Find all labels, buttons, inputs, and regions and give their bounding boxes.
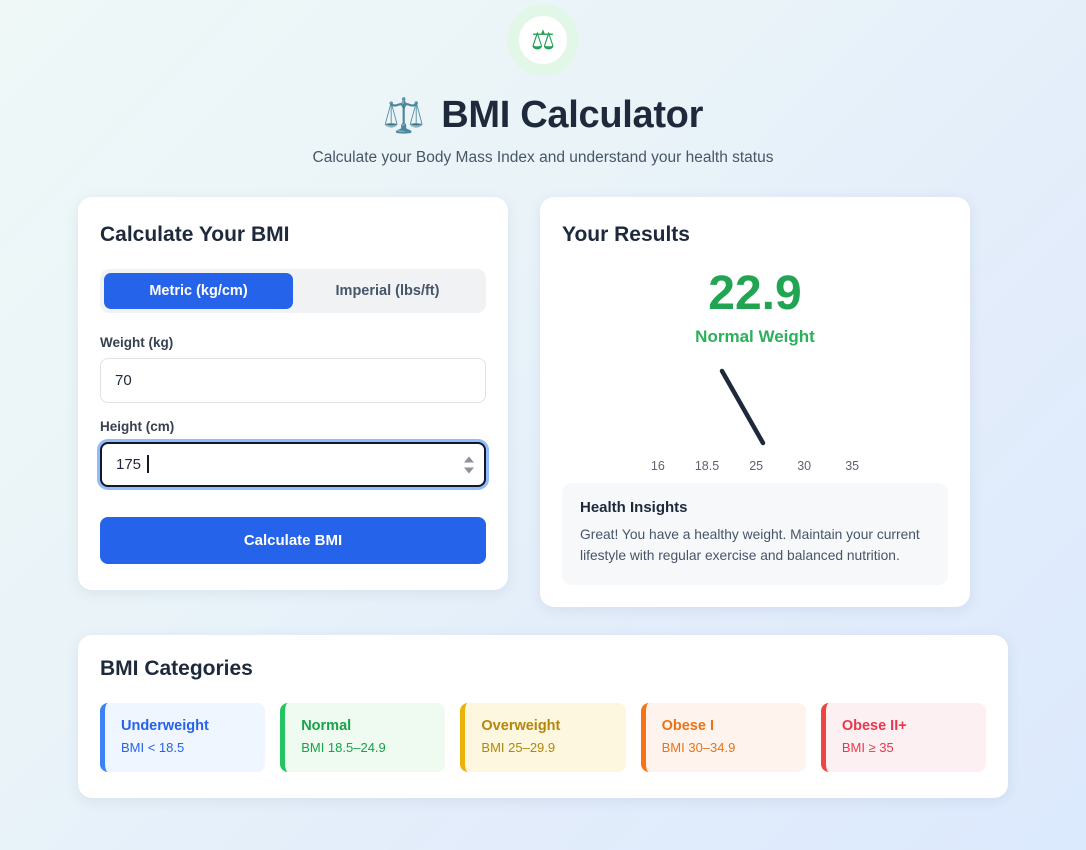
logo-circle: ⚖ — [519, 16, 567, 64]
unit-toggle-metric[interactable]: Metric (kg/cm) — [104, 273, 293, 309]
gauge-tick-labels: 16 18.5 25 30 35 — [562, 459, 948, 473]
height-input-wrap — [100, 442, 486, 487]
results-card: Your Results 22.9 Normal Weight 16 18.5 … — [540, 197, 970, 607]
bmi-gauge: 16 18.5 25 30 35 — [562, 359, 948, 477]
height-input[interactable] — [100, 442, 486, 487]
gauge-tick: 25 — [745, 459, 767, 473]
weight-input-wrap — [100, 358, 486, 403]
calculator-card: Calculate Your BMI Metric (kg/cm) Imperi… — [78, 197, 508, 590]
height-field-block: Height (cm) — [100, 419, 486, 487]
category-item-obese-2: Obese II+ BMI ≥ 35 — [821, 703, 986, 772]
stepper-down-icon[interactable] — [464, 467, 474, 473]
title-row: ⚖️ BMI Calculator — [0, 94, 1086, 137]
calculate-bmi-button[interactable]: Calculate BMI — [100, 517, 486, 564]
bmi-categories-card: BMI Categories Underweight BMI < 18.5 No… — [78, 635, 1008, 798]
category-item-underweight: Underweight BMI < 18.5 — [100, 703, 265, 772]
bmi-category-label: Normal Weight — [562, 327, 948, 347]
category-range: BMI < 18.5 — [121, 740, 249, 755]
gauge-tick: 16 — [647, 459, 669, 473]
scales-of-justice-icon: ⚖ — [531, 27, 555, 54]
category-range: BMI 25–29.9 — [481, 740, 609, 755]
gauge-tick: 18.5 — [695, 459, 719, 473]
category-name: Normal — [301, 718, 429, 734]
results-heading: Your Results — [562, 223, 948, 247]
category-name: Overweight — [481, 718, 609, 734]
page-title: BMI Calculator — [441, 94, 703, 137]
gauge-needle — [722, 371, 763, 443]
health-insights-text: Great! You have a healthy weight. Mainta… — [580, 525, 930, 566]
bmi-value: 22.9 — [562, 269, 948, 319]
weight-field-block: Weight (kg) — [100, 335, 486, 403]
category-range: BMI 30–34.9 — [662, 740, 790, 755]
gauge-tick: 30 — [793, 459, 815, 473]
balance-scale-icon: ⚖️ — [383, 99, 425, 133]
unit-toggle-group[interactable]: Metric (kg/cm) Imperial (lbs/ft) — [100, 269, 486, 313]
gauge-tick: 35 — [841, 459, 863, 473]
logo-halo: ⚖ — [507, 4, 579, 76]
categories-grid: Underweight BMI < 18.5 Normal BMI 18.5–2… — [100, 703, 986, 772]
categories-heading: BMI Categories — [100, 657, 986, 681]
category-range: BMI ≥ 35 — [842, 740, 970, 755]
health-insights-title: Health Insights — [580, 499, 930, 516]
number-stepper[interactable] — [464, 456, 474, 473]
height-label: Height (cm) — [100, 419, 486, 434]
category-name: Underweight — [121, 718, 249, 734]
unit-toggle-imperial[interactable]: Imperial (lbs/ft) — [293, 273, 482, 309]
category-item-overweight: Overweight BMI 25–29.9 — [460, 703, 625, 772]
stepper-up-icon[interactable] — [464, 456, 474, 462]
text-caret — [147, 455, 149, 473]
weight-input[interactable] — [100, 358, 486, 403]
calculator-heading: Calculate Your BMI — [100, 223, 486, 247]
category-item-normal: Normal BMI 18.5–24.9 — [280, 703, 445, 772]
category-name: Obese I — [662, 718, 790, 734]
page-subtitle: Calculate your Body Mass Index and under… — [0, 149, 1086, 167]
health-insights-panel: Health Insights Great! You have a health… — [562, 483, 948, 584]
category-range: BMI 18.5–24.9 — [301, 740, 429, 755]
category-item-obese-1: Obese I BMI 30–34.9 — [641, 703, 806, 772]
main-columns: Calculate Your BMI Metric (kg/cm) Imperi… — [0, 197, 1086, 607]
weight-label: Weight (kg) — [100, 335, 486, 350]
category-name: Obese II+ — [842, 718, 970, 734]
page-header: ⚖ ⚖️ BMI Calculator Calculate your Body … — [0, 0, 1086, 167]
